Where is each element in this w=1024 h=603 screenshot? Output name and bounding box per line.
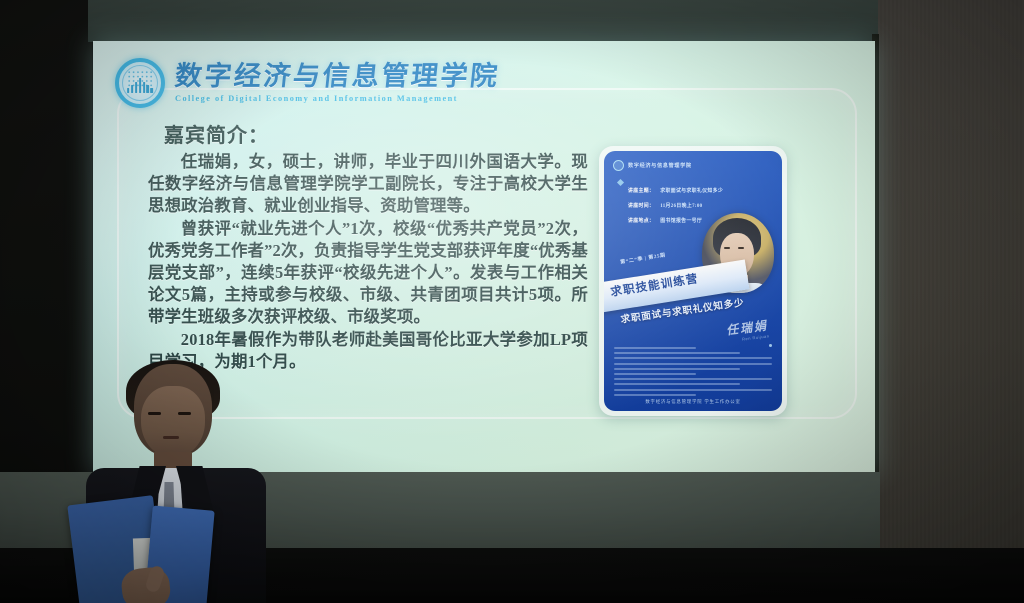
lecture-poster-frame: 数字经济与信息管理学院 讲座主题： 求职面试与求职礼仪知多少 讲座时间： 11月… (599, 146, 787, 416)
poster-bullet-icon (617, 179, 624, 186)
college-emblem-icon (115, 58, 165, 108)
room-wall-right (878, 0, 1024, 603)
poster-meta-value: 图书馆报告一号厅 (660, 217, 702, 224)
bio-paragraph: 曾获评“就业先进个人”1次，校级“优秀共产党员”2次，优秀党务工作者”2次，负责… (148, 218, 588, 328)
poster-meta-row: 讲座时间： 11月26日晚上7:00 (628, 202, 723, 209)
lecture-hall-scene: 数字经济与信息管理学院 College of Digital Economy a… (0, 0, 1024, 603)
poster-meta-row: 讲座地点： 图书馆报告一号厅 (628, 217, 723, 224)
bio-paragraph: 任瑞娟，女，硕士，讲师，毕业于四川外国语大学。现任数字经济与信息管理学院学工副院… (148, 151, 588, 217)
poster-footer: 数字经济与信息管理学院 学生工作办公室 (604, 399, 782, 405)
poster-meta-value: 11月26日晚上7:00 (660, 202, 702, 209)
poster-org-name: 数字经济与信息管理学院 (628, 162, 692, 169)
slide-header: 数字经济与信息管理学院 College of Digital Economy a… (115, 58, 500, 108)
poster-meta-list: 讲座主题： 求职面试与求职礼仪知多少 讲座时间： 11月26日晚上7:00 讲座… (628, 187, 723, 224)
poster-emblem-icon (613, 160, 624, 171)
college-name-en: College of Digital Economy and Informati… (175, 95, 500, 103)
poster-meta-value: 求职面试与求职礼仪知多少 (660, 187, 723, 194)
presenter-person (60, 360, 290, 603)
poster-meta-row: 讲座主题： 求职面试与求职礼仪知多少 (628, 187, 723, 194)
guest-bio-text: 任瑞娟，女，硕士，讲师，毕业于四川外国语大学。现任数字经济与信息管理学院学工副院… (148, 151, 588, 374)
poster-org-logo: 数字经济与信息管理学院 (613, 160, 692, 171)
poster-meta-label: 讲座主题： (628, 187, 654, 194)
college-name-cn: 数字经济与信息管理学院 (174, 63, 501, 90)
poster-meta-label: 讲座地点： (628, 217, 654, 224)
poster-meta-label: 讲座时间： (628, 202, 654, 209)
page-title: 嘉宾简介： (164, 119, 269, 148)
poster-body-text-lines (614, 347, 772, 396)
poster-pretitle: 第“二”季 | 第25期 (620, 251, 666, 265)
lecture-poster: 数字经济与信息管理学院 讲座主题： 求职面试与求职礼仪知多少 讲座时间： 11月… (604, 151, 782, 411)
